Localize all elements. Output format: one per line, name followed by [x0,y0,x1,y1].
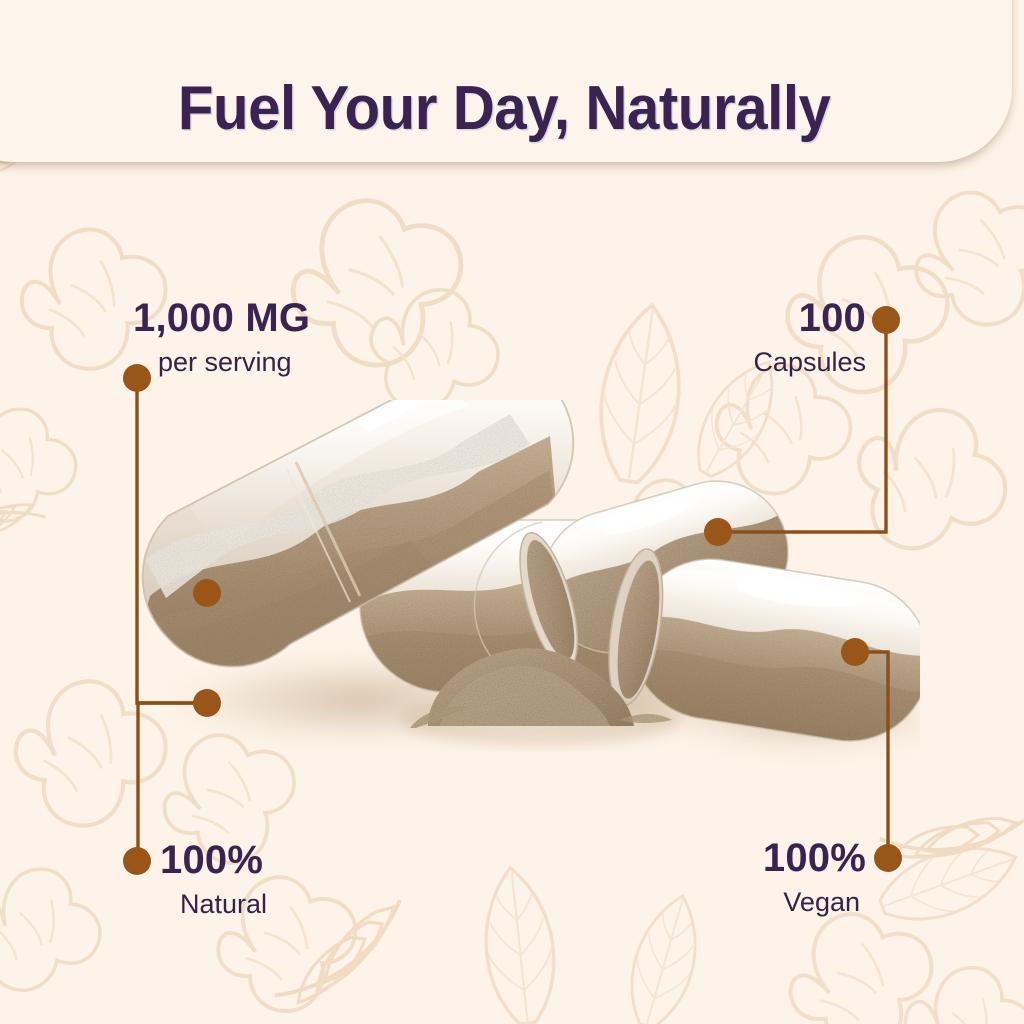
callout-vegan-subtext: Vegan [763,889,860,916]
callout-natural: 100% Natural [160,840,267,918]
callout-count-headline: 100 [753,298,866,338]
callout-dosage-subtext: per serving [158,349,310,376]
callout-dosage: 1,000 MG per serving [133,298,310,376]
marker-dot-count-label [872,306,900,334]
callout-natural-subtext: Natural [180,891,267,918]
marker-dot-vegan-label [874,844,902,872]
callout-count: 100 Capsules [753,298,866,376]
callout-vegan: 100% Vegan [763,838,866,916]
header-banner: Fuel Your Day, Naturally [0,0,1012,162]
callout-natural-headline: 100% [160,840,267,880]
callout-dosage-headline: 1,000 MG [133,298,310,338]
product-photo-capsules [110,400,920,790]
callout-count-subtext: Capsules [753,349,866,376]
page-title: Fuel Your Day, Naturally [178,73,831,144]
infographic-canvas: Fuel Your Day, Naturally [0,0,1024,1024]
marker-dot-natural-label [123,847,151,875]
callout-vegan-headline: 100% [763,838,866,878]
